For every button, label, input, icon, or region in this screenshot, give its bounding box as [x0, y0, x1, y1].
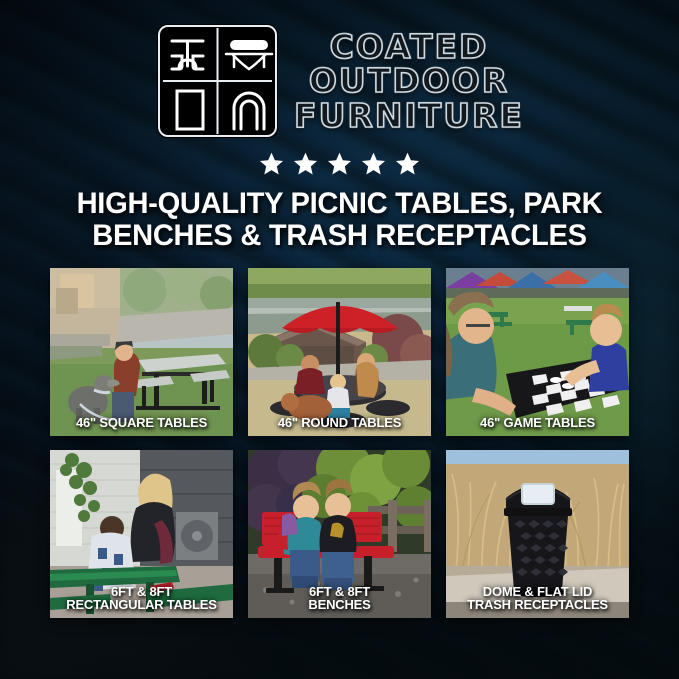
star-icon	[395, 151, 420, 176]
caption-line-2: BENCHES	[248, 598, 431, 612]
caption-line-1: 46" GAME TABLES	[480, 415, 595, 430]
brand-word-2: OUTDOOR	[309, 64, 509, 98]
caption-line-1: 46" ROUND TABLES	[278, 415, 401, 430]
product-caption: DOME & FLAT LID TRASH RECEPTACLES	[446, 585, 629, 613]
product-caption: 6FT & 8FT RECTANGULAR TABLES	[50, 585, 233, 613]
product-card-rectangular-tables[interactable]: 6FT & 8FT RECTANGULAR TABLES	[50, 450, 233, 618]
headline-line-2: BENCHES & TRASH RECEPTACLES	[32, 220, 648, 252]
brand-wordmark: COATED OUTDOOR FURNITURE	[294, 30, 524, 133]
star-icon	[327, 151, 352, 176]
product-caption: 46" GAME TABLES	[446, 416, 629, 430]
caption-line-1: 46" SQUARE TABLES	[76, 415, 207, 430]
page-title: HIGH-QUALITY PICNIC TABLES, PARK BENCHES…	[32, 188, 648, 252]
caption-line-2: RECTANGULAR TABLES	[50, 598, 233, 612]
brand-word-1: COATED	[330, 30, 489, 64]
brand-word-3: FURNITURE	[294, 99, 524, 133]
product-card-game-tables[interactable]: 46" GAME TABLES	[446, 268, 629, 436]
brand-logo: COATED OUTDOOR FURNITURE	[0, 0, 679, 140]
product-card-square-tables[interactable]: 46" SQUARE TABLES	[50, 268, 233, 436]
furniture-grid-logo-icon	[155, 22, 280, 140]
photo-round-tables	[248, 268, 431, 436]
photo-square-tables	[50, 268, 233, 436]
product-caption: 6FT & 8FT BENCHES	[248, 585, 431, 613]
star-rating	[0, 151, 679, 176]
headline-line-1: HIGH-QUALITY PICNIC TABLES, PARK	[32, 188, 648, 220]
caption-line-2: TRASH RECEPTACLES	[446, 598, 629, 612]
product-grid: 46" SQUARE TABLES	[0, 268, 679, 618]
product-caption: 46" ROUND TABLES	[248, 416, 431, 430]
star-icon	[259, 151, 284, 176]
promo-poster: COATED OUTDOOR FURNITURE HIGH-QUALITY PI…	[0, 0, 679, 679]
product-card-benches[interactable]: 6FT & 8FT BENCHES	[248, 450, 431, 618]
product-card-round-tables[interactable]: 46" ROUND TABLES	[248, 268, 431, 436]
photo-game-tables	[446, 268, 629, 436]
product-caption: 46" SQUARE TABLES	[50, 416, 233, 430]
star-icon	[293, 151, 318, 176]
star-icon	[361, 151, 386, 176]
product-card-trash-receptacles[interactable]: DOME & FLAT LID TRASH RECEPTACLES	[446, 450, 629, 618]
